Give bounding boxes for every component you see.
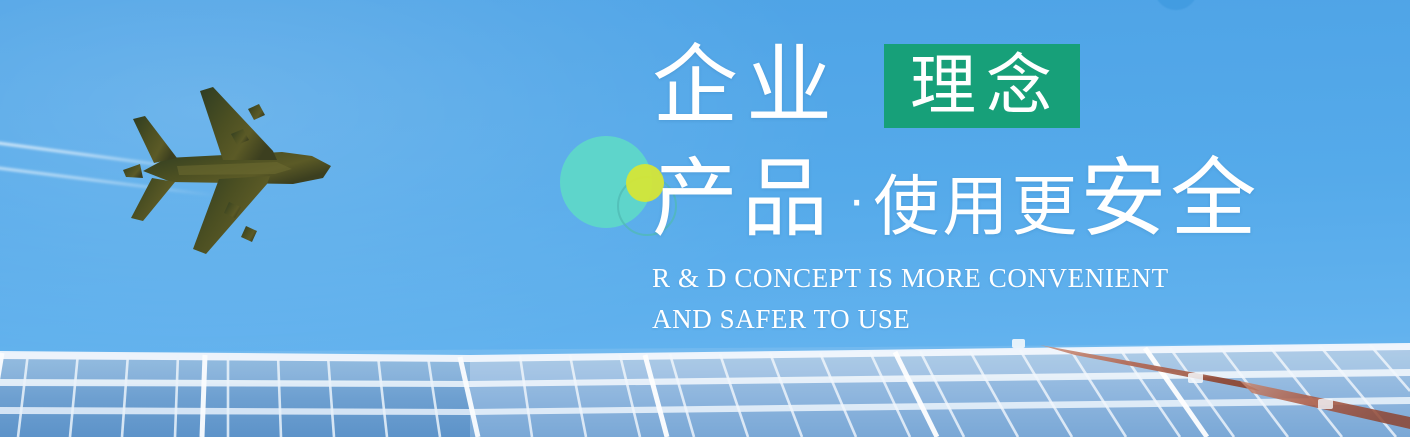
headline-separator-dot: · bbox=[832, 174, 873, 242]
airplane-icon bbox=[107, 78, 375, 274]
headline-subtitle: R & D CONCEPT IS MORE CONVENIENT AND SAF… bbox=[652, 258, 1392, 340]
headline-line-1: 企业 理念 bbox=[652, 34, 1392, 138]
solar-panel-array bbox=[0, 329, 1410, 437]
headline-line2-mid-text: 使用更 bbox=[873, 173, 1080, 242]
headline-block: 企业 理念 产品 · 使用更 安全 R & D CONCEPT IS MORE … bbox=[652, 34, 1392, 340]
headline-tag-label: 理念 bbox=[910, 52, 1062, 118]
headline-line2-right-text: 安全 bbox=[1080, 156, 1260, 242]
headline-line2-left-text: 产品 bbox=[652, 156, 832, 242]
headline-line-2: 产品 · 使用更 安全 bbox=[652, 146, 1392, 242]
headline-primary-text: 企业 bbox=[652, 43, 840, 129]
decorative-circle-top-icon bbox=[1154, 0, 1198, 10]
hero-banner: 企业 理念 产品 · 使用更 安全 R & D CONCEPT IS MORE … bbox=[0, 0, 1410, 437]
headline-tag-badge: 理念 bbox=[884, 44, 1080, 128]
